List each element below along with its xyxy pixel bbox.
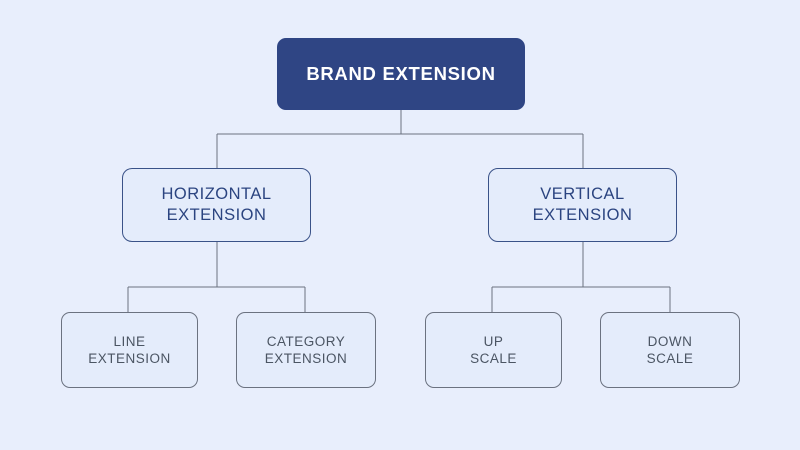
node-down-scale-label: DOWN SCALE <box>641 333 700 368</box>
node-up-scale[interactable]: UP SCALE <box>425 312 562 388</box>
node-horizontal-extension[interactable]: HORIZONTAL EXTENSION <box>122 168 311 242</box>
node-brand-extension[interactable]: BRAND EXTENSION <box>277 38 525 110</box>
diagram-canvas: BRAND EXTENSION HORIZONTAL EXTENSION VER… <box>0 0 800 450</box>
node-brand-extension-label: BRAND EXTENSION <box>300 62 501 86</box>
node-horizontal-extension-label: HORIZONTAL EXTENSION <box>155 184 277 226</box>
node-category-extension[interactable]: CATEGORY EXTENSION <box>236 312 376 388</box>
node-vertical-extension[interactable]: VERTICAL EXTENSION <box>488 168 677 242</box>
node-line-extension[interactable]: LINE EXTENSION <box>61 312 198 388</box>
node-vertical-extension-label: VERTICAL EXTENSION <box>527 184 639 226</box>
node-line-extension-label: LINE EXTENSION <box>82 333 177 368</box>
node-category-extension-label: CATEGORY EXTENSION <box>259 333 354 368</box>
node-down-scale[interactable]: DOWN SCALE <box>600 312 740 388</box>
node-up-scale-label: UP SCALE <box>464 333 523 368</box>
